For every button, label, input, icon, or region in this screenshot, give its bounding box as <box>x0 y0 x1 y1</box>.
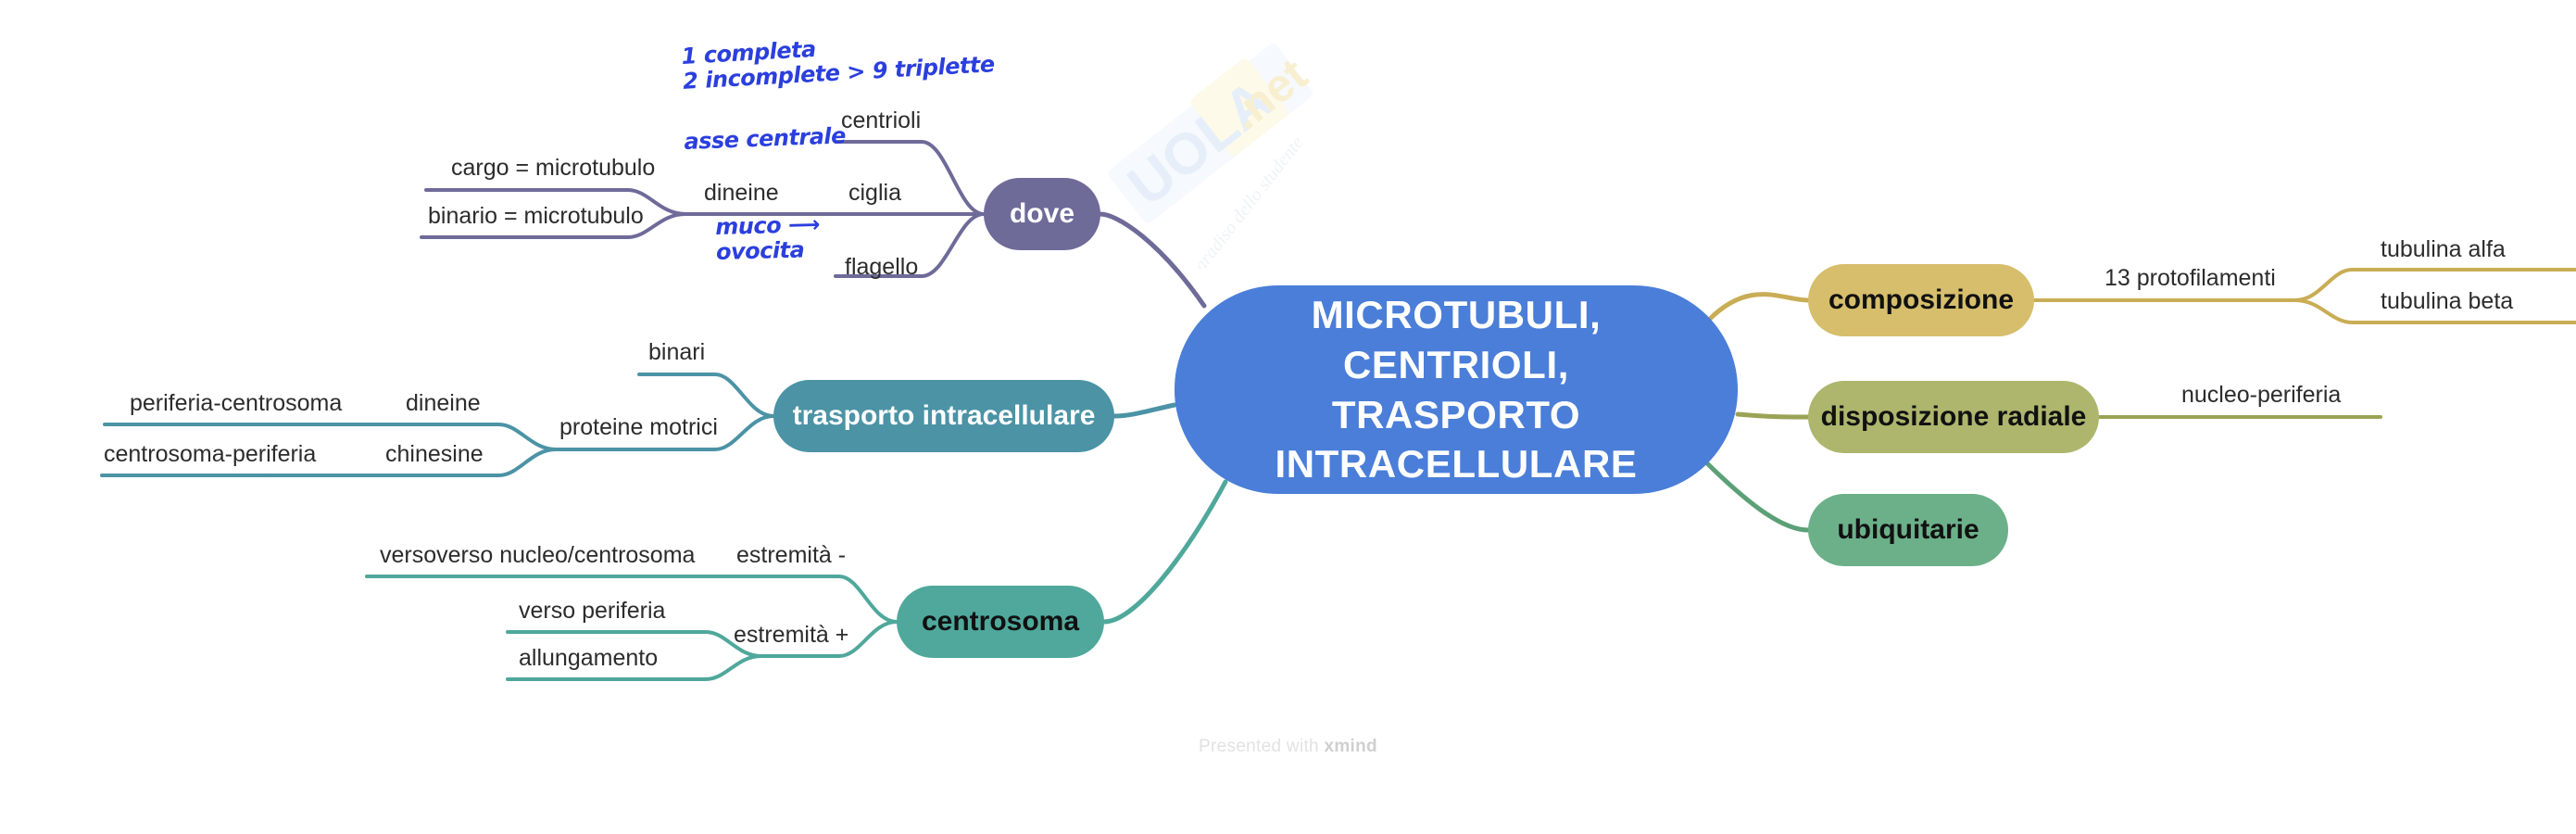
leaf-cargo-microtubulo[interactable]: cargo = microtubulo <box>451 157 655 180</box>
edge-root-disposizione <box>1738 414 1808 417</box>
branch-node-trasporto-intracellulare[interactable]: trasporto intracellulare <box>773 380 1114 452</box>
mindmap-canvas: UOLA .net il paradiso dello studente MIC… <box>0 0 2576 834</box>
leaf-13-protofilamenti[interactable]: 13 protofilamenti <box>2105 267 2276 290</box>
edge-centrosoma-estrmeno <box>761 576 897 622</box>
leaf-verso-periferia[interactable]: verso periferia <box>519 600 665 623</box>
leaf-dineine-proteine[interactable]: dineine <box>406 392 481 415</box>
branch-node-dove[interactable]: dove <box>984 178 1100 250</box>
edge-root-ubiquitarie <box>1707 463 1808 530</box>
branch-node-centrosoma[interactable]: centrosoma <box>897 586 1104 658</box>
xmind-watermark: Presented with xmind <box>0 737 2576 757</box>
edge-trasporto-binari <box>639 374 773 416</box>
branch-node-composizione[interactable]: composizione <box>1808 264 2034 336</box>
leaf-centrosoma-periferia[interactable]: centrosoma-periferia <box>104 443 316 466</box>
leaf-ciglia[interactable]: ciglia <box>848 182 901 205</box>
leaf-binari[interactable]: binari <box>648 341 705 364</box>
handwritten-note-muco-ovocita: muco ⟶ ovocita <box>715 212 821 265</box>
handwritten-arrow-icon: ⟶ <box>788 211 821 238</box>
leaf-tubulina-beta[interactable]: tubulina beta <box>2381 290 2513 313</box>
edge-root-composizione <box>1709 295 1808 320</box>
xmind-watermark-prefix: Presented with <box>1199 737 1324 756</box>
xmind-watermark-brand: xmind <box>1325 737 1377 756</box>
leaf-dineine-ciglia[interactable]: dineine <box>704 182 779 205</box>
branch-node-disposizione-radiale[interactable]: disposizione radiale <box>1808 381 2099 453</box>
handwritten-note-triplette: 1 completa 2 incomplete > 9 triplette <box>681 27 995 94</box>
leaf-verso-nucleo-centrosoma[interactable]: versoverso nucleo/centrosoma <box>380 544 695 567</box>
edge-root-centrosoma <box>1104 482 1225 622</box>
leaf-estremita-piu[interactable]: estremità + <box>734 624 848 647</box>
svg-text:il paradiso dello studente: il paradiso dello studente <box>1175 133 1308 269</box>
leaf-estremita-meno[interactable]: estremità - <box>736 544 846 567</box>
leaf-binario-microtubulo[interactable]: binario = microtubulo <box>428 205 644 228</box>
edge-root-dove <box>1100 214 1204 306</box>
leaf-proteine-motrici[interactable]: proteine motrici <box>559 416 718 439</box>
svg-text:UOLA: UOLA <box>1116 68 1284 219</box>
leaf-flagello[interactable]: flagello <box>845 256 918 279</box>
handwritten-gt-arrow-icon: > <box>847 58 866 85</box>
leaf-chinesine[interactable]: chinesine <box>385 443 484 466</box>
skuola-watermark: UOLA .net il paradiso dello studente <box>1082 0 1388 269</box>
handwritten-note-asse-centrale: asse centrale <box>684 123 846 155</box>
leaf-periferia-centrosoma[interactable]: periferia-centrosoma <box>130 392 342 415</box>
handwritten-muco: muco <box>715 212 782 240</box>
svg-text:.net: .net <box>1220 48 1317 140</box>
branch-node-ubiquitarie[interactable]: ubiquitarie <box>1808 494 2008 566</box>
edge-root-trasporto <box>1114 405 1175 416</box>
leaf-centrioli[interactable]: centrioli <box>841 109 921 133</box>
leaf-tubulina-alfa[interactable]: tubulina alfa <box>2381 238 2506 261</box>
leaf-allungamento[interactable]: allungamento <box>519 647 658 670</box>
root-node[interactable]: MICROTUBULI, CENTRIOLI, TRASPORTO INTRAC… <box>1175 285 1738 494</box>
leaf-nucleo-periferia[interactable]: nucleo-periferia <box>2181 384 2341 407</box>
handwritten-extra: 9 triplette <box>872 51 995 83</box>
handwritten-ovocita: ovocita <box>716 236 805 264</box>
